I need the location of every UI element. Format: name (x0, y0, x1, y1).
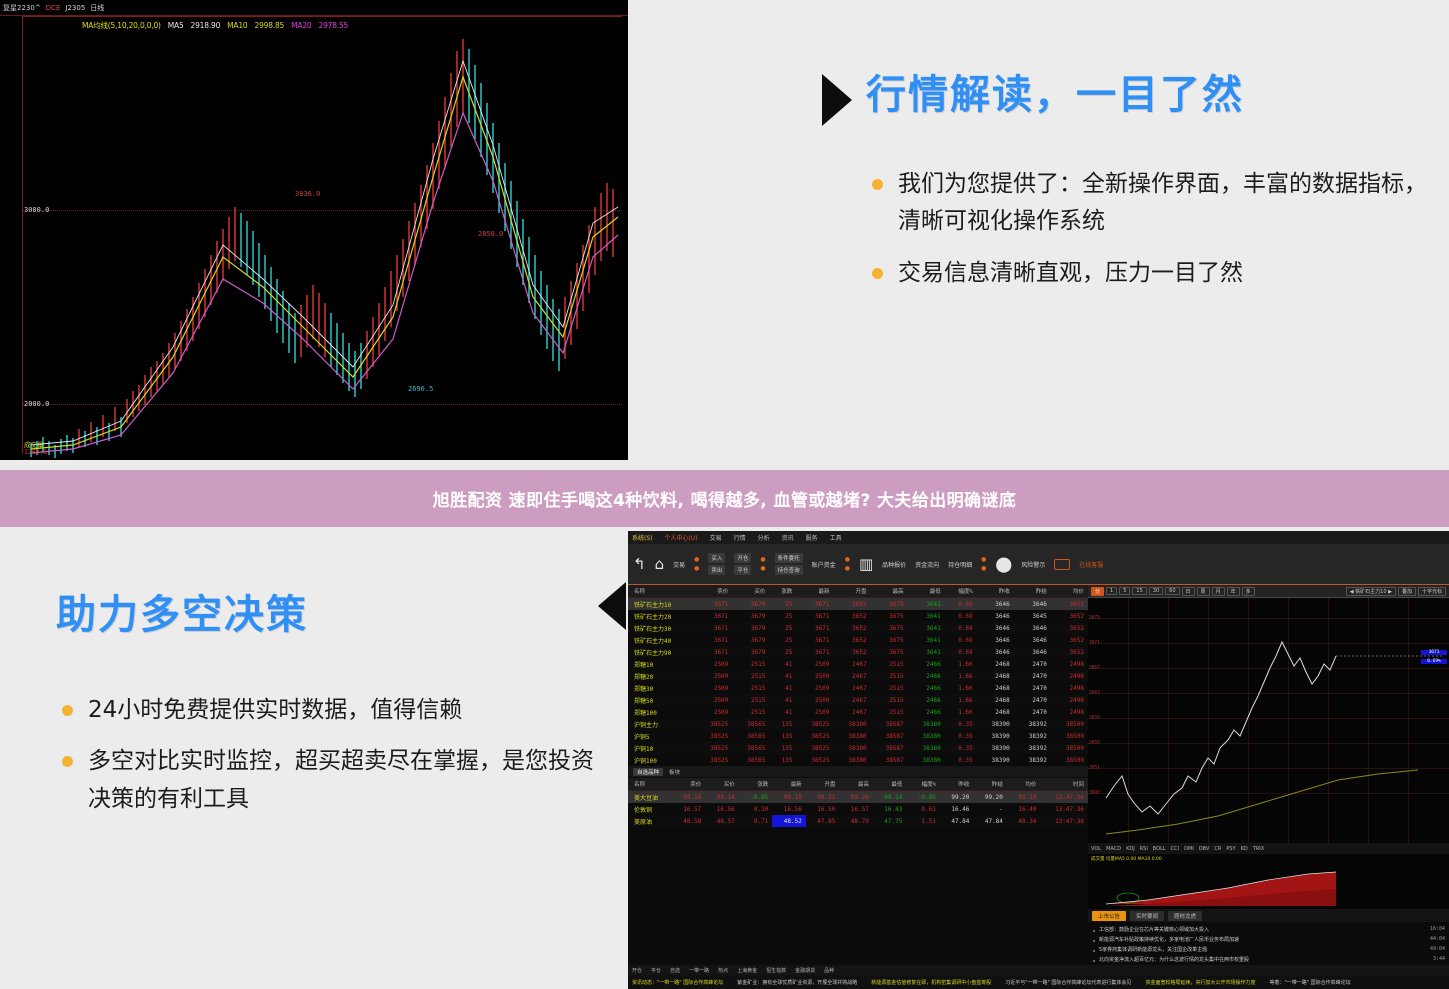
quote-table-header: 名称卖价买价涨跌最新开盘最高最低幅度%昨收昨结均价 (628, 585, 1088, 598)
quote-cell: 2470 (1014, 694, 1051, 706)
terminal-footer-menu: 开仓平仓自选一带一路热点上海黄金恒生指数金融期货品种 (628, 965, 1449, 975)
symbol-selector[interactable]: ◀ 铁矿石主力10 ▶ (1346, 587, 1396, 596)
quote-cell: 2509 (695, 694, 732, 706)
period-tab-周[interactable]: 周 (1197, 587, 1210, 596)
quote-cell: 3646 (1014, 646, 1051, 658)
quote-cell: 3646 (1014, 634, 1051, 646)
annotation-bottom-low: 1268.5 (24, 448, 47, 456)
quote-cell: 135 (769, 730, 796, 742)
indicator-MACD[interactable]: MACD (1106, 846, 1121, 852)
quote-cell: 2509 (796, 706, 833, 718)
quote-cell: 2515 (871, 682, 908, 694)
detail-col-12[interactable]: 时间 (1040, 778, 1088, 791)
quote-col-0[interactable]: 名称 (628, 585, 695, 598)
quote-cell: 3641 (908, 634, 945, 646)
news-item-title: 北向资金净流入超百亿元：为什么这波行情的龙头集中在两市权重股 (1092, 956, 1249, 963)
quote-cell: 0.35 (945, 742, 977, 754)
quote-cell: 25 (769, 646, 796, 658)
ma5-line (31, 61, 618, 445)
quote-cell: 2515 (732, 670, 769, 682)
footer-menu-4[interactable]: 热点 (718, 967, 728, 974)
quote-cell: 3675 (871, 646, 908, 658)
trade-label[interactable]: 交易 (673, 560, 685, 569)
quote-cell: 郑糖20 (628, 670, 695, 682)
ma10-line (31, 77, 618, 449)
detail-cell: - (973, 803, 1007, 815)
annotation-peak-mid2: 2850.0 (478, 230, 503, 238)
indicator-DMI[interactable]: DMI (1184, 846, 1194, 852)
detail-cell: 16.43 (873, 803, 907, 815)
quote-cell: 38525 (695, 730, 732, 742)
quote-cell: 2467 (833, 670, 870, 682)
quote-cell: 3652 (833, 598, 870, 611)
quote-cell: 135 (769, 718, 796, 730)
detail-cell: 48.52 (772, 815, 806, 827)
quote-col-5[interactable]: 开盘 (833, 585, 870, 598)
footer-menu-6[interactable]: 恒生指数 (766, 967, 786, 974)
volume-subchart: 成交量 均量MA5 0.00 MA10 0.00 (1088, 854, 1449, 909)
open-close-buttons[interactable]: 开仓 平仓 (734, 553, 751, 575)
footer-menu-1[interactable]: 平仓 (651, 967, 661, 974)
detail-col-8[interactable]: 幅度% (906, 778, 940, 791)
trading-terminal: 系统(S)个人中心(U)交易行情分析资讯服务工具 ↰ ⌂ 交易 ●● 买入 卖出… (628, 531, 1449, 989)
chart-tool-0[interactable]: 叠加 (1398, 587, 1416, 596)
quote-cell: 38500 (1051, 754, 1088, 766)
quote-cell: 2468 (977, 694, 1014, 706)
quote-cell: 38525 (695, 718, 732, 730)
menu-item-5[interactable]: 资讯 (782, 533, 794, 542)
indicator-CR[interactable]: CR (1214, 846, 1221, 852)
footer-menu-3[interactable]: 一带一路 (689, 967, 709, 974)
menu-item-3[interactable]: 行情 (734, 533, 746, 542)
terminal-ticker: 资讯动态："一带一路" 国际合作高峰论坛紫金矿业：拥有全球优质矿业资源，开展全球… (628, 975, 1449, 989)
detail-cell: 13:47:38 (1040, 815, 1088, 827)
dot-marker-icon-2: ●● (760, 555, 765, 573)
news-item-time: 3:44 (1433, 956, 1445, 962)
quote-cell: 3675 (871, 634, 908, 646)
quote-cell: 2509 (695, 682, 732, 694)
table-row[interactable]: 郑糖100250925154125092467251524661.6624682… (628, 706, 1088, 718)
promo-banner[interactable]: 旭胜配资 速即住手喝这4种饮料, 喝得越多, 血管或越堵? 大夫给出明确谜底 (0, 470, 1449, 527)
quote-col-9[interactable]: 昨收 (977, 585, 1014, 598)
y-axis-label-low: 2000.0 (24, 400, 49, 408)
table-row[interactable]: 铁矿石主力30367136792536713652367536410.69364… (628, 622, 1088, 634)
chart-tool-1[interactable]: 十字光标 (1418, 587, 1446, 596)
banner-text: 旭胜配资 速即住手喝这4种饮料, 喝得越多, 血管或越堵? 大夫给出明确谜底 (433, 486, 1016, 511)
slide-page: 复星2230^ DCE J2305 日线 MA均线(5,10,20,0,0,0)… (0, 0, 1449, 989)
quote-col-7[interactable]: 最低 (908, 585, 945, 598)
quote-cell: 38380 (908, 742, 945, 754)
menu-item-2[interactable]: 交易 (710, 533, 722, 542)
buy-button[interactable]: 买入 (708, 553, 725, 563)
table-row[interactable]: 伦敦铜16.5716.560.1016.5616.5016.5716.430.6… (628, 803, 1088, 815)
quote-col-10[interactable]: 昨结 (1014, 585, 1051, 598)
quote-cell: 2509 (796, 682, 833, 694)
ticker-item-3: 习近平与"一带一路" 国际合作高峰论坛代表进行集体会见 (1005, 979, 1131, 986)
quote-cell: 3652 (1051, 610, 1088, 622)
table-row[interactable]: 铁矿石主力10367136792536713652367536410.69364… (628, 598, 1088, 611)
detail-cell: 16.50 (806, 803, 840, 815)
quote-col-8[interactable]: 幅度% (945, 585, 977, 598)
indicator-KD[interactable]: KD (1241, 846, 1248, 852)
quote-cell: 2467 (833, 706, 870, 718)
ticker-item-0: 资讯动态："一带一路" 国际合作高峰论坛 (632, 979, 723, 986)
news-tab-bar: 上市公告实时要闻题材龙虎 (1088, 909, 1449, 922)
detail-col-6[interactable]: 最高 (839, 778, 873, 791)
quote-cell: 3646 (977, 646, 1014, 658)
indicator-CCI[interactable]: CCI (1171, 846, 1179, 852)
kline-title-period[interactable]: 日线 (90, 3, 104, 13)
quote-cell: 郑糖30 (628, 682, 695, 694)
quote-table-body: 铁矿石主力10367136792536713652367536410.69364… (628, 598, 1088, 767)
condition-query-buttons[interactable]: 条件委托 持仓查询 (775, 553, 803, 575)
period-tab-月[interactable]: 月 (1212, 587, 1225, 596)
quote-cell: 38500 (1051, 730, 1088, 742)
menu-item-0[interactable]: 系统(S) (632, 533, 653, 542)
terminal-toolbar: ↰ ⌂ 交易 ●● 买入 卖出 开仓 平仓 ●● 条件委托 持仓查询 账户资金 … (628, 544, 1449, 585)
quote-cell: 2509 (796, 670, 833, 682)
quote-cell: 1.66 (945, 658, 977, 670)
menu-item-4[interactable]: 分析 (758, 533, 770, 542)
quote-cell: 38390 (977, 754, 1014, 766)
quote-cell: 3671 (796, 646, 833, 658)
detail-col-9[interactable]: 昨收 (940, 778, 974, 791)
detail-col-0[interactable]: 名称 (628, 778, 672, 791)
quote-cell: 2470 (1014, 706, 1051, 718)
quote-col-1[interactable]: 卖价 (695, 585, 732, 598)
quote-cell: 0.35 (945, 718, 977, 730)
detail-col-2[interactable]: 买价 (705, 778, 739, 791)
quote-col-3[interactable]: 涨跌 (769, 585, 796, 598)
indicator-OBV[interactable]: OBV (1199, 846, 1210, 852)
news-item-time: 49:04 (1430, 946, 1445, 952)
position-query-button[interactable]: 持仓查询 (775, 565, 803, 575)
quote-cell: 3671 (796, 598, 833, 611)
news-item[interactable]: 新能源汽车补贴政策持续优化，多家电池厂人民币业务布局加速44:04 (1092, 934, 1445, 944)
table-row[interactable]: 沪铜103852538565135385253838038587383800.3… (628, 742, 1088, 754)
price-tick-7: 3647 (1089, 791, 1100, 796)
bottom-text-block: 助力多空决策 24小时免费提供实时数据，值得信赖 多空对比实时监控，超买超卖尽在… (56, 582, 616, 832)
quote-cell: 2466 (908, 706, 945, 718)
customer-service-button[interactable]: 在线客服 (1079, 560, 1103, 569)
detail-cell: -0.05 (739, 791, 773, 804)
detail-cell: 47.75 (873, 815, 907, 827)
quote-cell: 3641 (908, 610, 945, 622)
chart-icon[interactable]: ▥ (859, 557, 873, 572)
kline-candles (23, 17, 623, 460)
quote-cell: 38390 (977, 730, 1014, 742)
top-headline: 行情解读，一目了然 (866, 62, 1436, 120)
quote-cell: 3652 (833, 646, 870, 658)
period-tab-60[interactable]: 60 (1165, 587, 1179, 595)
quote-cell: 3675 (871, 622, 908, 634)
detail-cell: 99.19 (1007, 791, 1041, 804)
detail-cell: 13:47:36 (1040, 803, 1088, 815)
quote-cell: 铁矿石主力90 (628, 646, 695, 658)
quote-cell: 38392 (1014, 754, 1051, 766)
detail-col-4[interactable]: 最新 (772, 778, 806, 791)
detail-cell: 0.63 (906, 803, 940, 815)
annotation-trough-mid: 2696.5 (408, 385, 433, 393)
detail-table-header: 名称卖价买价涨跌最新开盘最高最低幅度%昨收昨结均价时间 (628, 778, 1088, 791)
quote-cell: 2466 (908, 694, 945, 706)
quote-cell: 3679 (732, 598, 769, 611)
quote-cell: 3652 (833, 622, 870, 634)
current-price-tag: 3671 (1421, 650, 1447, 655)
quote-cell: 3646 (1014, 622, 1051, 634)
quote-cell: 38525 (695, 742, 732, 754)
table-row[interactable]: 沪铜主力3852538565135385253838038587383800.3… (628, 718, 1088, 730)
kline-title-contract: J2305 (65, 4, 85, 12)
ma20-line (31, 113, 618, 453)
indicator-PSY[interactable]: PSY (1226, 846, 1235, 852)
quote-cell: 135 (769, 754, 796, 766)
annotation-peak-mid: 3036.0 (295, 190, 320, 198)
quote-cell: 25 (769, 610, 796, 622)
quote-cell: 2468 (977, 706, 1014, 718)
quote-cell: 25 (769, 598, 796, 611)
detail-cell: 1.51 (906, 815, 940, 827)
quote-cell: 38587 (871, 742, 908, 754)
period-tab-1[interactable]: 1 (1106, 587, 1117, 595)
account-funds-button[interactable]: 账户资金 (812, 560, 836, 569)
table-row[interactable]: 铁矿石主力40367136792536713652367536410.69364… (628, 634, 1088, 646)
quote-cell: 3671 (796, 610, 833, 622)
buy-sell-buttons[interactable]: 买入 卖出 (708, 553, 725, 575)
quote-cell: 2470 (1014, 682, 1051, 694)
quote-cell: 38525 (695, 754, 732, 766)
quote-cell: 3671 (695, 634, 732, 646)
detail-cell: -0.05 (906, 791, 940, 804)
kline-title-exchange: DCE (46, 4, 61, 12)
quote-cell: 3641 (908, 646, 945, 658)
quote-col-6[interactable]: 最高 (871, 585, 908, 598)
footer-menu-2[interactable]: 自选 (670, 967, 680, 974)
footer-menu-0[interactable]: 开仓 (632, 967, 642, 974)
period-tab-日[interactable]: 日 (1182, 587, 1195, 596)
price-tick-4: 3659 (1089, 716, 1100, 721)
period-tab-年[interactable]: 年 (1227, 587, 1240, 596)
quote-cell: 3652 (1051, 634, 1088, 646)
quote-cell: 2468 (977, 682, 1014, 694)
kline-title-symbol: 复星2230^ (3, 3, 41, 13)
table-row[interactable]: 铁矿石主力20367136792536713652367536410.69364… (628, 610, 1088, 622)
news-item[interactable]: 工信部：鼓励企业在芯片等关键核心领域加大投入16:04 (1092, 924, 1445, 934)
quote-cell: 沪铜100 (628, 754, 695, 766)
news-item-title: 新能源汽车补贴政策持续优化，多家电池厂人民币业务布局加速 (1092, 936, 1239, 943)
change-pct-tag: 0.69% (1421, 659, 1447, 664)
quote-cell: 2509 (695, 706, 732, 718)
table-row[interactable]: 郑糖20250925154125092467251524661.66246824… (628, 670, 1088, 682)
quote-cell: 2466 (908, 682, 945, 694)
bottom-headline: 助力多空决策 (56, 582, 616, 640)
top-bullet-list: 我们为您提供了：全新操作界面，丰富的数据指标，清晰可视化操作系统 交易信息清晰直… (866, 166, 1436, 292)
quote-cell: 3671 (695, 646, 732, 658)
indicator-KDJ[interactable]: KDJ (1126, 846, 1135, 852)
quote-cell: 郑糖10 (628, 658, 695, 670)
quote-cell: 38565 (732, 718, 769, 730)
open-position-button[interactable]: 开仓 (734, 553, 751, 563)
quote-cell: 0.69 (945, 610, 977, 622)
quote-cell: 2515 (871, 706, 908, 718)
risk-warning-button[interactable]: 风险警示 (1021, 560, 1045, 569)
period-tab-分[interactable]: 分 (1091, 587, 1104, 596)
quote-cell: 2515 (732, 706, 769, 718)
quote-col-4[interactable]: 最新 (796, 585, 833, 598)
detail-col-10[interactable]: 昨结 (973, 778, 1007, 791)
quote-cell: 2515 (871, 694, 908, 706)
price-tick-2: 3667 (1089, 666, 1100, 671)
quote-cell: 3679 (732, 646, 769, 658)
quote-cell: 3671 (695, 622, 732, 634)
quote-cell: 38565 (732, 742, 769, 754)
kline-chart-panel: 复星2230^ DCE J2305 日线 MA均线(5,10,20,0,0,0)… (0, 0, 628, 460)
detail-cell: 16.46 (940, 803, 974, 815)
market-quote-button[interactable]: 品种报价 (882, 560, 906, 569)
detail-cell: 0.71 (739, 815, 773, 827)
quote-cell: 1.66 (945, 694, 977, 706)
period-tab-30[interactable]: 30 (1149, 587, 1163, 595)
detail-col-1[interactable]: 卖价 (672, 778, 706, 791)
quote-cell: 3675 (871, 598, 908, 611)
alarm-icon[interactable]: ⬤ (995, 557, 1012, 572)
footer-menu-7[interactable]: 金融期货 (795, 967, 815, 974)
price-tick-0: 3675 (1089, 616, 1100, 621)
quote-cell: 2470 (1014, 670, 1051, 682)
indicator-RSI[interactable]: RSI (1140, 846, 1148, 852)
detail-col-7[interactable]: 最低 (873, 778, 907, 791)
quote-cell: 38525 (796, 730, 833, 742)
quote-cell: 25 (769, 622, 796, 634)
chart-right-pane: 分15153060日周月年多◀ 铁矿石主力10 ▶叠加十字光标 3675 367… (1088, 585, 1449, 989)
quote-cell: 41 (769, 682, 796, 694)
quote-cell: 38525 (796, 742, 833, 754)
quote-col-2[interactable]: 买价 (732, 585, 769, 598)
home-icon[interactable]: ⌂ (655, 557, 665, 572)
quote-cell: 38565 (732, 730, 769, 742)
detail-cell: 16.56 (705, 803, 739, 815)
quote-cell: 38587 (871, 754, 908, 766)
quote-cell: 38390 (977, 718, 1014, 730)
terminal-menubar: 系统(S)个人中心(U)交易行情分析资讯服务工具 (628, 531, 1449, 544)
close-position-button[interactable]: 平仓 (734, 565, 751, 575)
detail-col-11[interactable]: 均价 (1007, 778, 1041, 791)
kline-plot-area[interactable]: 3000.0 2000.0 3673.5 3036.0 2850.0 2696.… (22, 16, 622, 454)
detail-col-3[interactable]: 涨跌 (739, 778, 773, 791)
table-row[interactable]: 美原油48.5848.570.7148.5247.8548.7047.751.5… (628, 815, 1088, 827)
top-section: 复星2230^ DCE J2305 日线 MA均线(5,10,20,0,0,0)… (0, 0, 1449, 470)
detail-cell: 99.26 (839, 791, 873, 804)
table-row[interactable]: 郑糖50250925154125092467251524661.66246824… (628, 694, 1088, 706)
quote-cell: 2468 (977, 670, 1014, 682)
quote-cell: 38587 (871, 718, 908, 730)
sell-button[interactable]: 卖出 (708, 565, 725, 575)
sub-tab-1[interactable]: 板块 (669, 768, 680, 776)
quote-col-11[interactable]: 均价 (1051, 585, 1088, 598)
quote-cell: 38525 (796, 718, 833, 730)
quote-cell: 135 (769, 742, 796, 754)
capital-flow-button[interactable]: 资金流向 (915, 560, 939, 569)
period-tab-多[interactable]: 多 (1242, 587, 1255, 596)
menu-item-7[interactable]: 工具 (830, 533, 842, 542)
menu-item-6[interactable]: 服务 (806, 533, 818, 542)
news-tab-2[interactable]: 题材龙虎 (1168, 911, 1202, 921)
news-tab-0[interactable]: 上市公告 (1092, 911, 1126, 921)
detail-cell: 0.10 (739, 803, 773, 815)
detail-cell: 美大豆油 (628, 791, 672, 804)
quote-cell: 2515 (871, 670, 908, 682)
price-tick-5: 3655 (1089, 741, 1100, 746)
quote-cell: 38587 (871, 730, 908, 742)
indicator-VOL[interactable]: VOL (1091, 846, 1101, 852)
quote-cell: 38392 (1014, 730, 1051, 742)
condition-order-button[interactable]: 条件委托 (775, 553, 803, 563)
pointer-arrow-right-icon (822, 74, 852, 126)
quote-cell: 沪铜主力 (628, 718, 695, 730)
news-tab-1[interactable]: 实时要闻 (1130, 911, 1164, 921)
indicator-bar: VOLMACDKDJRSIBOLLCCIDMIOBVCRPSYKDTRIX (1088, 843, 1449, 854)
quote-cell: 0.69 (945, 634, 977, 646)
quote-cell: 2515 (732, 682, 769, 694)
ticker-item-5: 等着："一带一路" 国际合作高峰论坛 (1269, 979, 1350, 986)
quote-cell: 2498 (1051, 658, 1088, 670)
table-row[interactable]: 沪铜1003852538565135385253838038587383800.… (628, 754, 1088, 766)
quote-cell: 2466 (908, 658, 945, 670)
table-row[interactable]: 沪铜53852538565135385253838038587383800.35… (628, 730, 1088, 742)
price-tick-3: 3663 (1089, 691, 1100, 696)
chat-icon[interactable] (1054, 559, 1070, 570)
period-tab-15[interactable]: 15 (1132, 587, 1146, 595)
quote-cell: 38380 (833, 718, 870, 730)
back-icon[interactable]: ↰ (633, 557, 646, 572)
indicator-BOLL[interactable]: BOLL (1153, 846, 1166, 852)
table-row[interactable]: 美大豆油99.1699.14-0.0599.1599.2199.2699.14-… (628, 791, 1088, 804)
footer-menu-8[interactable]: 品种 (824, 967, 834, 974)
ticker-item-2: 新能源基金估值修复在即，机构密集调研中小盘蓝筹股 (871, 979, 991, 986)
news-item-time: 16:04 (1430, 926, 1445, 932)
indicator-TRIX[interactable]: TRIX (1253, 846, 1264, 852)
realtime-chart[interactable]: 3675 3671 3667 3663 3659 3655 3651 3647 … (1088, 598, 1449, 843)
news-item[interactable]: 北向资金净流入超百亿元：为什么这波行情的龙头集中在两市权重股3:44 (1092, 954, 1445, 964)
news-item[interactable]: 5家券商集体调研新能源龙头，关注国企改革主题49:04 (1092, 944, 1445, 954)
quote-cell: 38380 (908, 730, 945, 742)
quote-cell: 0.35 (945, 754, 977, 766)
period-tab-5[interactable]: 5 (1119, 587, 1130, 595)
table-row[interactable]: 郑糖30250925154125092467251524661.66246824… (628, 682, 1088, 694)
dot-marker-icon: ●● (694, 555, 699, 573)
detail-cell: 99.15 (772, 791, 806, 804)
menu-item-1[interactable]: 个人中心(U) (665, 533, 698, 542)
sub-tab-0[interactable]: 自选品种 (633, 768, 663, 776)
detail-col-5[interactable]: 开盘 (806, 778, 840, 791)
footer-menu-5[interactable]: 上海黄金 (737, 967, 757, 974)
detail-table-body: 美大豆油99.1699.14-0.0599.1599.2199.2699.14-… (628, 791, 1088, 828)
detail-cell: 47.84 (940, 815, 974, 827)
quote-cell: 2515 (732, 658, 769, 670)
quote-cell: 38380 (833, 730, 870, 742)
ticker-item-1: 紫金矿业：拥有全球优质矿业资源，开展全球并购战略 (737, 979, 857, 986)
quote-cell: 1.66 (945, 670, 977, 682)
kline-titlebar: 复星2230^ DCE J2305 日线 (0, 0, 628, 16)
table-row[interactable]: 郑糖10250925154125092467251524661.66246824… (628, 658, 1088, 670)
detail-cell: 16.57 (839, 803, 873, 815)
quote-cell: 2467 (833, 682, 870, 694)
quote-cell: 铁矿石主力30 (628, 622, 695, 634)
table-row[interactable]: 铁矿石主力90367136792536713652367536410.69364… (628, 646, 1088, 658)
quote-cell: 郑糖100 (628, 706, 695, 718)
position-detail-button[interactable]: 持仓明细 (948, 560, 972, 569)
quote-cell: 38380 (833, 754, 870, 766)
